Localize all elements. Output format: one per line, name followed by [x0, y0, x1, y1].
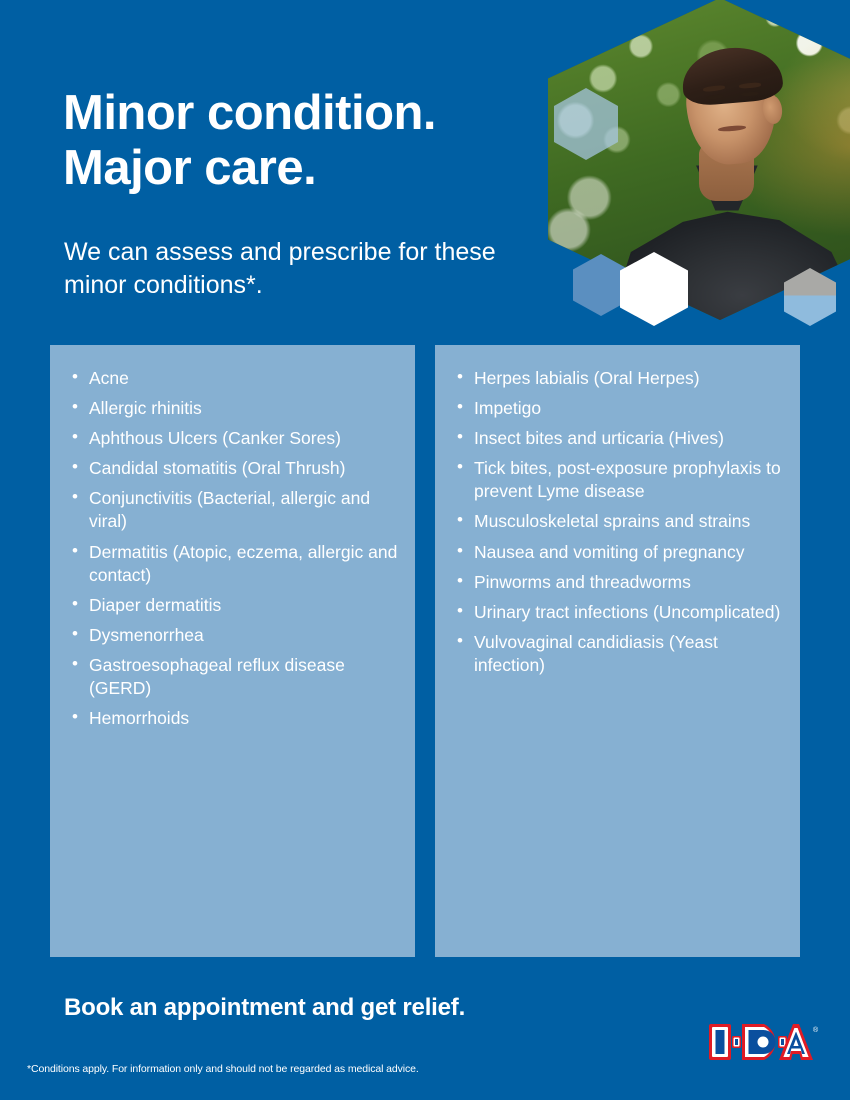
page-title: Minor condition. Major care.	[63, 86, 583, 196]
headline-line-1: Minor condition.	[63, 86, 583, 141]
conditions-list-right: Herpes labialis (Oral Herpes)ImpetigoIns…	[457, 367, 784, 677]
condition-list-item: Acne	[72, 367, 399, 390]
condition-list-item: Musculoskeletal sprains and strains	[457, 510, 784, 533]
cta-text: Book an appointment and get relief.	[64, 994, 465, 1022]
condition-list-item: Hemorrhoids	[72, 707, 399, 730]
condition-list-item: Nausea and vomiting of pregnancy	[457, 541, 784, 564]
conditions-panel-right: Herpes labialis (Oral Herpes)ImpetigoIns…	[435, 345, 800, 957]
trademark-symbol: ®	[813, 1026, 819, 1034]
headline-line-2: Major care.	[63, 141, 583, 196]
condition-list-item: Herpes labialis (Oral Herpes)	[457, 367, 784, 390]
conditions-panels: AcneAllergic rhinitisAphthous Ulcers (Ca…	[50, 345, 800, 957]
disclaimer-text: *Conditions apply. For information only …	[27, 1063, 419, 1075]
condition-list-item: Aphthous Ulcers (Canker Sores)	[72, 427, 399, 450]
poster-canvas: Minor condition. Major care. We can asse…	[0, 0, 850, 1100]
condition-list-item: Dysmenorrhea	[72, 624, 399, 647]
ida-logo-icon: ®	[707, 1018, 819, 1066]
conditions-list-left: AcneAllergic rhinitisAphthous Ulcers (Ca…	[72, 367, 399, 730]
condition-list-item: Gastroesophageal reflux disease (GERD)	[72, 654, 399, 700]
condition-list-item: Impetigo	[457, 397, 784, 420]
condition-list-item: Allergic rhinitis	[72, 397, 399, 420]
condition-list-item: Urinary tract infections (Uncomplicated)	[457, 601, 784, 624]
conditions-panel-left: AcneAllergic rhinitisAphthous Ulcers (Ca…	[50, 345, 415, 957]
condition-list-item: Diaper dermatitis	[72, 594, 399, 617]
ida-logo[interactable]: ®	[707, 1018, 819, 1066]
condition-list-item: Vulvovaginal candidiasis (Yeast infectio…	[457, 631, 784, 677]
condition-list-item: Candidal stomatitis (Oral Thrush)	[72, 457, 399, 480]
subheading: We can assess and prescribe for these mi…	[64, 236, 564, 303]
condition-list-item: Tick bites, post-exposure prophylaxis to…	[457, 457, 784, 503]
condition-list-item: Conjunctivitis (Bacterial, allergic and …	[72, 487, 399, 533]
condition-list-item: Pinworms and threadworms	[457, 571, 784, 594]
condition-list-item: Insect bites and urticaria (Hives)	[457, 427, 784, 450]
condition-list-item: Dermatitis (Atopic, eczema, allergic and…	[72, 541, 399, 587]
